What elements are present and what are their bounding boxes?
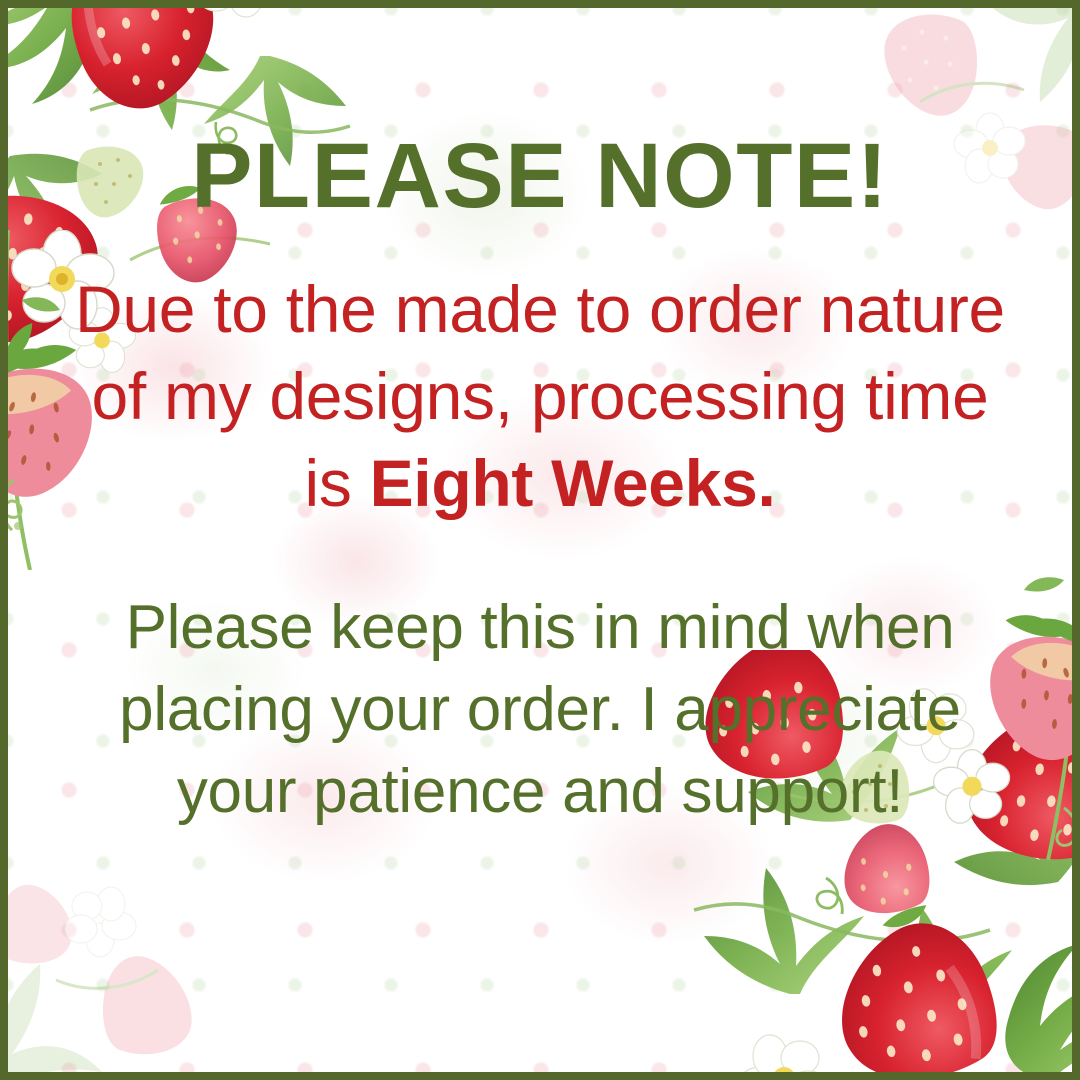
processing-time-notice: Due to the made to order nature of my de… xyxy=(75,266,1005,527)
notice-trailing-punctuation: . xyxy=(758,446,776,520)
closing-message: Please keep this in mind when placing yo… xyxy=(60,587,1020,832)
processing-duration-emphasis: Eight Weeks xyxy=(370,446,758,520)
please-note-poster: PLEASE NOTE! Due to the made to order na… xyxy=(0,0,1080,1080)
page-title: PLEASE NOTE! xyxy=(191,130,889,222)
